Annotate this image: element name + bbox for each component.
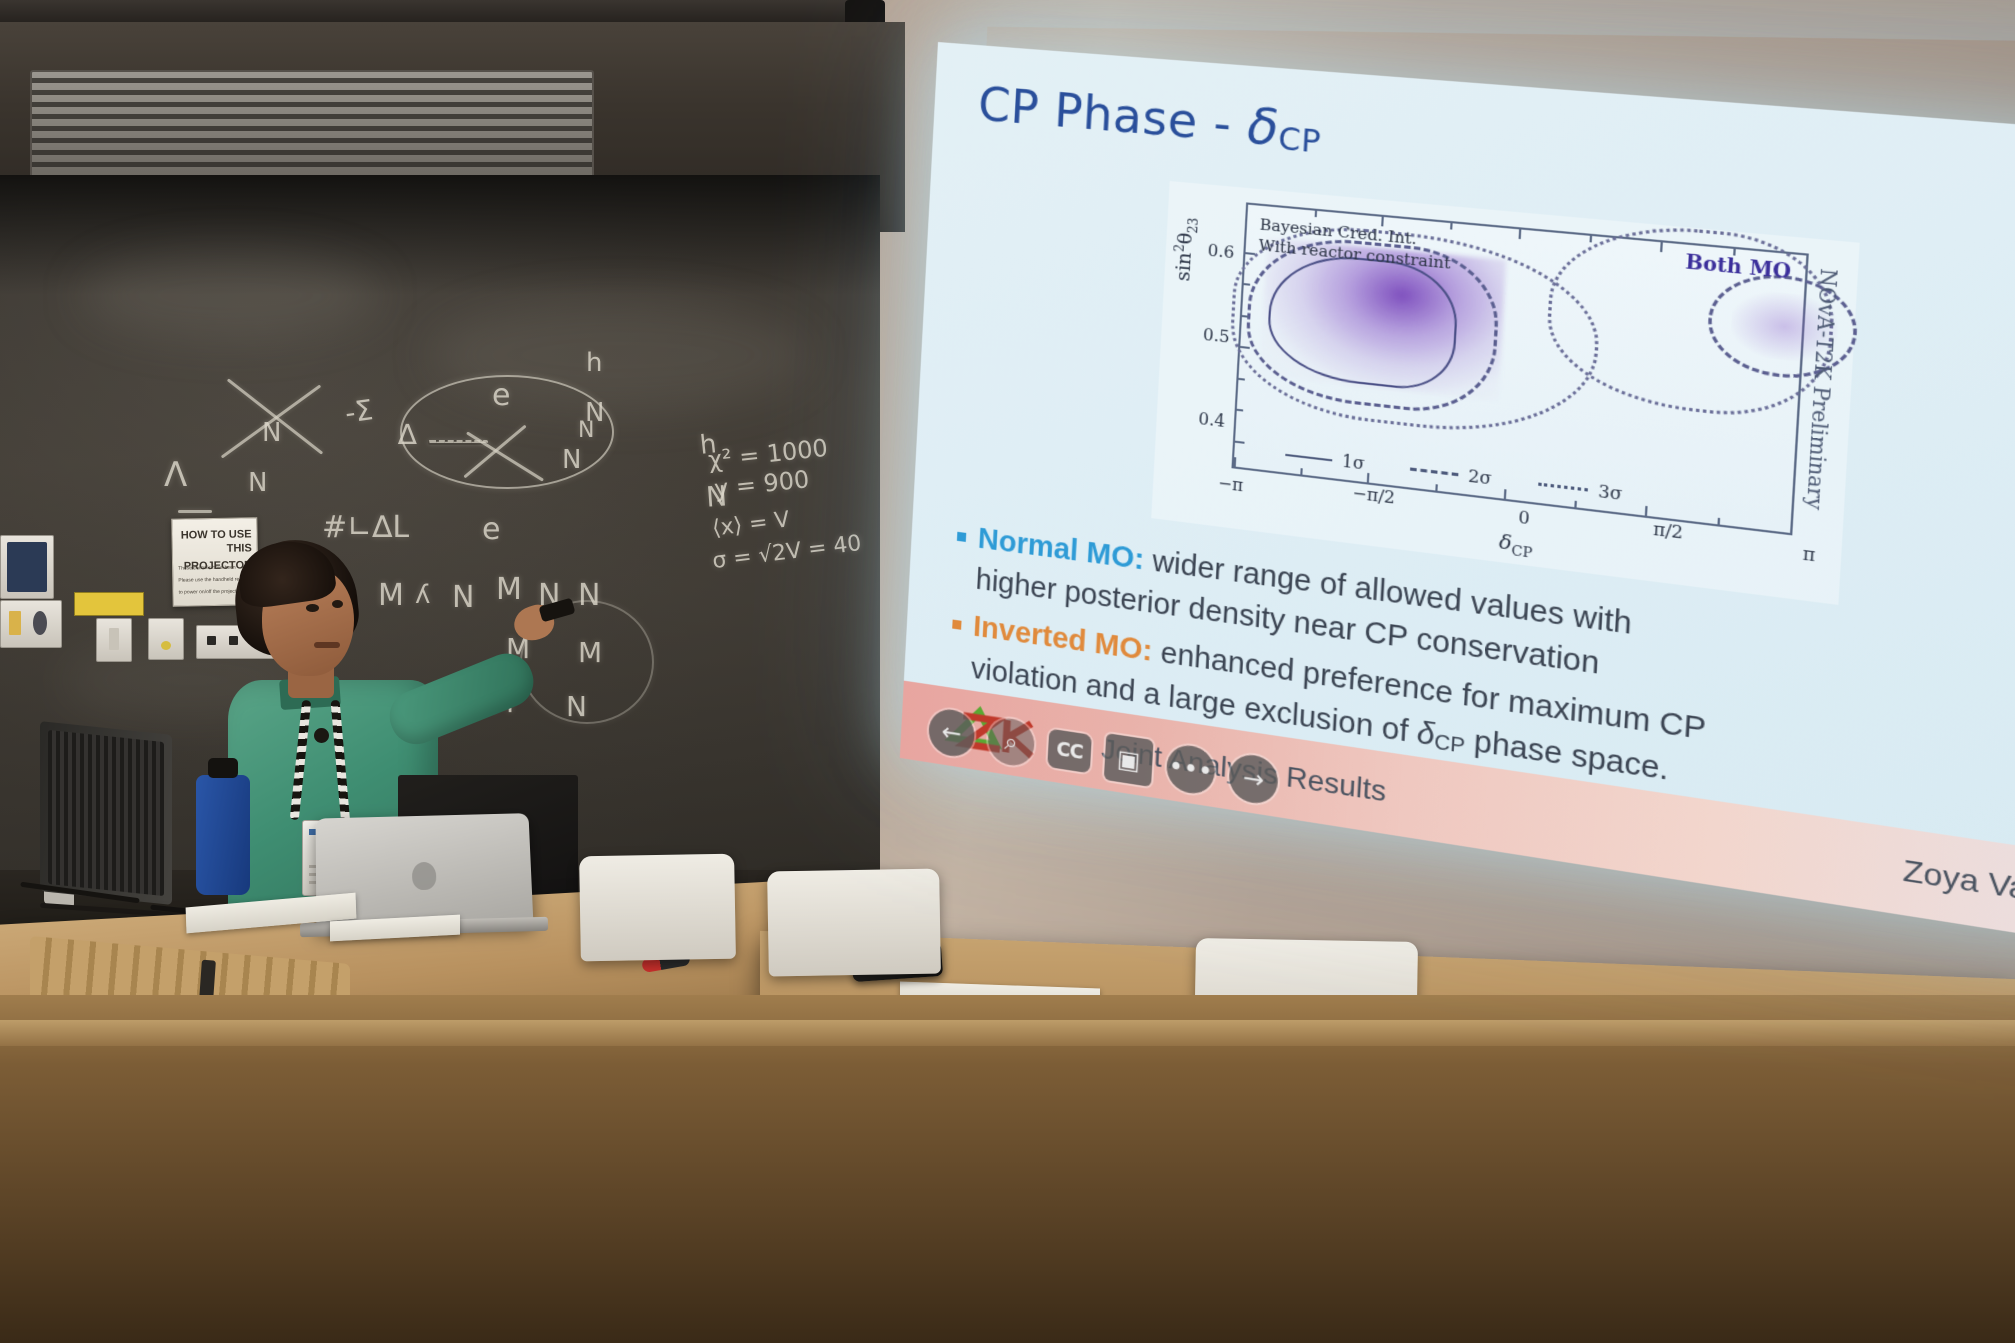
wall-outlet[interactable]: [148, 618, 184, 660]
closed-captions-button[interactable]: CC: [1047, 729, 1092, 774]
chart-plot-area: Bayesian Cred. Int. With reactor constra…: [1231, 202, 1808, 535]
bullet-marker: [957, 532, 966, 542]
xlabel-sub: CP: [1511, 543, 1533, 562]
chart-xlabel: δCP: [1498, 530, 1533, 562]
ytick-0.4: 0.4: [1198, 409, 1226, 432]
wall-display-panel: [0, 535, 54, 599]
chair[interactable]: [767, 869, 941, 977]
bullet-marker: [952, 620, 961, 630]
next-slide-button[interactable]: →: [1228, 752, 1279, 807]
chart-ylabel: sin2θ23: [1171, 216, 1202, 283]
present-screen-button[interactable]: ▣: [1104, 733, 1154, 787]
delta-subscript: CP: [1277, 121, 1322, 161]
slide-title: CP Phase - δCP: [977, 75, 1323, 161]
bullet-delta-sub: CP: [1434, 730, 1466, 758]
delta-symbol: δ: [1246, 97, 1281, 158]
bullet-delta-symbol: δ: [1416, 716, 1436, 752]
mouth: [314, 642, 340, 648]
chalk-stroke: [178, 510, 212, 513]
wall-switch-plate[interactable]: [96, 618, 132, 662]
legend-item-3sigma: 3σ: [1538, 474, 1623, 504]
footer-presenter-name: Zoya Vallari,: [1902, 853, 2015, 917]
lapel-microphone: [314, 728, 329, 743]
apple-logo-icon: [411, 862, 436, 891]
more-options-button[interactable]: •••: [1165, 742, 1215, 796]
lecture-room-photo: Λ N N -Σ ∆ e N N N h h N #∟∆L e M ʎ N M …: [0, 0, 2015, 1343]
air-vent: [30, 70, 594, 179]
legend-item-2sigma: 2σ: [1410, 459, 1493, 489]
legend-item-1sigma: 1σ: [1285, 445, 1365, 474]
wall-switch-plate[interactable]: [0, 600, 62, 648]
foreground-table-surface: [0, 995, 2015, 1343]
xtick-pi-over-2: π/2: [1645, 518, 1692, 544]
ytick-0.5: 0.5: [1203, 324, 1231, 346]
cp-phase-contour-chart: Bayesian Cred. Int. With reactor constra…: [1151, 181, 1859, 605]
legend-label: 3σ: [1598, 481, 1623, 504]
table-edge-highlight: [0, 1020, 2015, 1046]
chalk-ellipse: [400, 375, 614, 489]
chart-legend: 1σ 2σ 3σ: [1285, 445, 1623, 505]
slide-title-text: CP Phase -: [977, 76, 1249, 153]
computer-monitor: [40, 721, 172, 905]
legend-label: 2σ: [1468, 466, 1492, 489]
ytick-0.6: 0.6: [1207, 240, 1235, 262]
previous-slide-button[interactable]: ←: [928, 707, 976, 760]
presenter-arm: [382, 646, 541, 752]
zoom-search-button[interactable]: ⌕: [987, 715, 1035, 768]
xtick-minus-pi: −π: [1211, 472, 1250, 496]
xtick-zero: 0: [1507, 506, 1542, 530]
eye: [332, 600, 343, 608]
chair[interactable]: [579, 854, 736, 962]
chalk-smudge: [80, 250, 380, 340]
eye: [306, 604, 319, 612]
water-bottle: [196, 775, 250, 895]
xtick-pi: π: [1791, 542, 1828, 567]
caution-label: [74, 592, 144, 616]
legend-label: 1σ: [1341, 451, 1365, 473]
